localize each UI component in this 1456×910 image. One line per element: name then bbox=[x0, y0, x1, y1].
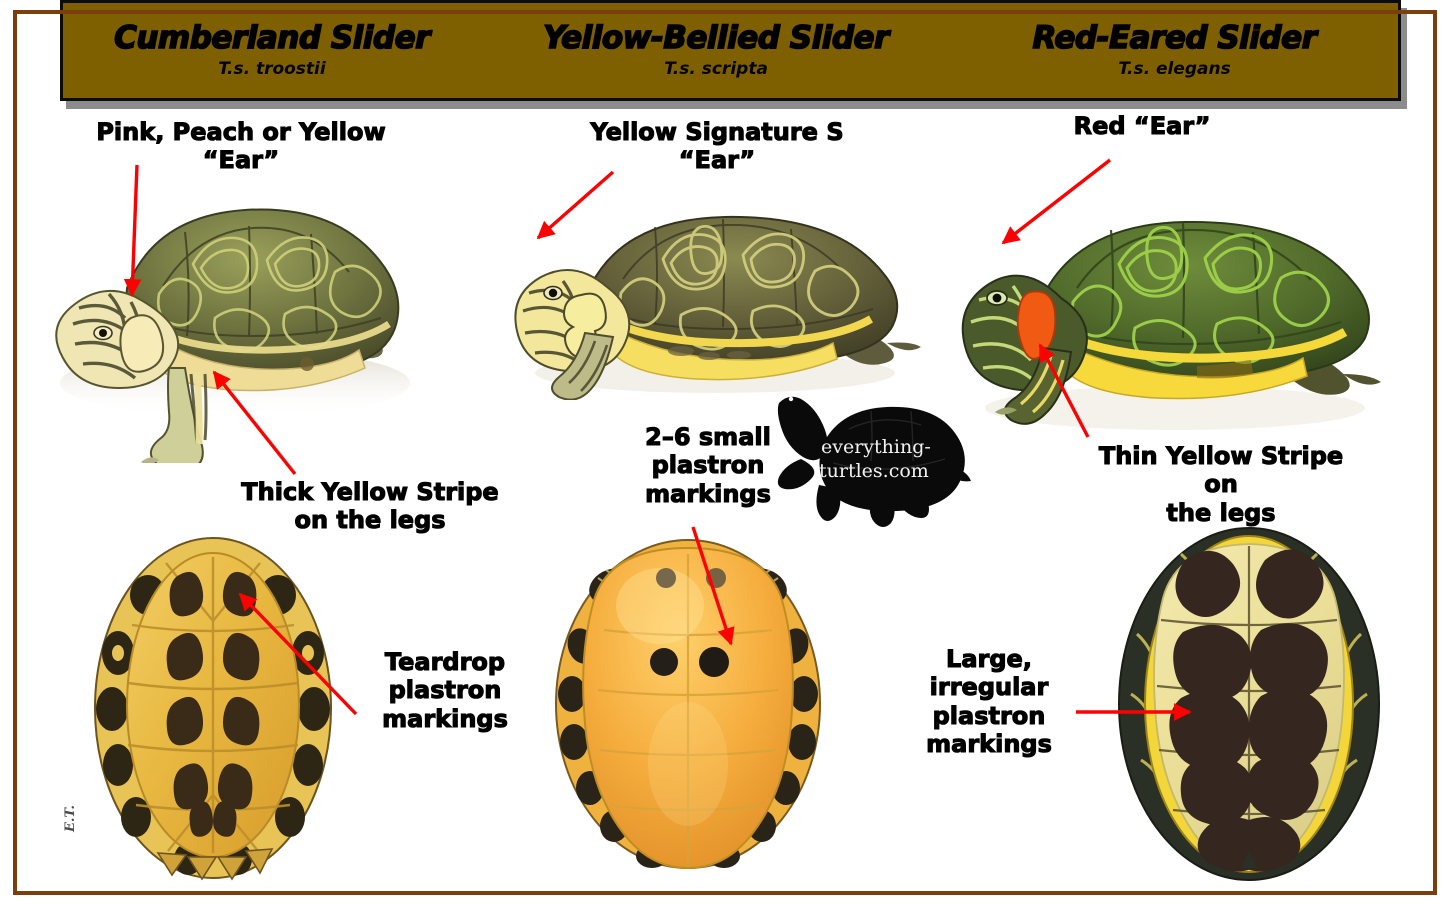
watermark-line-1: everything- bbox=[821, 436, 931, 458]
callout-right-legs: Thin Yellow Stripe on the legs bbox=[1080, 442, 1362, 527]
watermark-line-2: turtles.com bbox=[819, 460, 929, 482]
species-common-name-red-eared: Red-Eared Slider bbox=[1033, 23, 1317, 54]
yellow-bellied-slider-photo bbox=[495, 175, 930, 400]
species-common-name-yellow-bellied: Yellow-Bellied Slider bbox=[543, 23, 889, 54]
callout-left-ear: Pink, Peach or Yellow “Ear” bbox=[70, 118, 412, 175]
species-header-band: Cumberland Slider T.s. troostii Yellow-B… bbox=[60, 0, 1401, 101]
artist-signature: E.T. bbox=[63, 805, 78, 832]
callout-right-plastron: Large, irregular plastron markings bbox=[906, 645, 1072, 758]
callout-middle-plastron: 2–6 small plastron markings bbox=[628, 423, 788, 508]
species-scientific-name-red-eared: T.s. elegans bbox=[1118, 61, 1230, 78]
callout-left-legs: Thick Yellow Stripe on the legs bbox=[236, 478, 504, 535]
header-column-red-eared: Red-Eared Slider T.s. elegans bbox=[951, 3, 1398, 98]
species-scientific-name-yellow-bellied: T.s. scripta bbox=[664, 61, 768, 78]
yellow-bellied-plastron-photo bbox=[548, 534, 828, 874]
infographic-poster: Cumberland Slider T.s. troostii Yellow-B… bbox=[0, 0, 1456, 910]
callout-right-ear: Red “Ear” bbox=[1052, 112, 1232, 140]
red-eared-slider-photo bbox=[935, 170, 1400, 435]
cumberland-slider-photo bbox=[35, 168, 425, 463]
species-common-name-cumberland: Cumberland Slider bbox=[114, 23, 430, 54]
callout-left-plastron: Teardrop plastron markings bbox=[355, 648, 535, 733]
site-watermark: everything- turtles.com bbox=[775, 385, 975, 537]
cumberland-plastron-photo bbox=[88, 533, 338, 883]
header-column-yellow-bellied: Yellow-Bellied Slider T.s. scripta bbox=[481, 3, 951, 98]
header-column-cumberland: Cumberland Slider T.s. troostii bbox=[63, 3, 481, 98]
red-eared-plastron-photo bbox=[1115, 524, 1383, 884]
species-scientific-name-cumberland: T.s. troostii bbox=[218, 61, 325, 78]
callout-middle-ear: Yellow Signature S “Ear” bbox=[578, 118, 856, 175]
